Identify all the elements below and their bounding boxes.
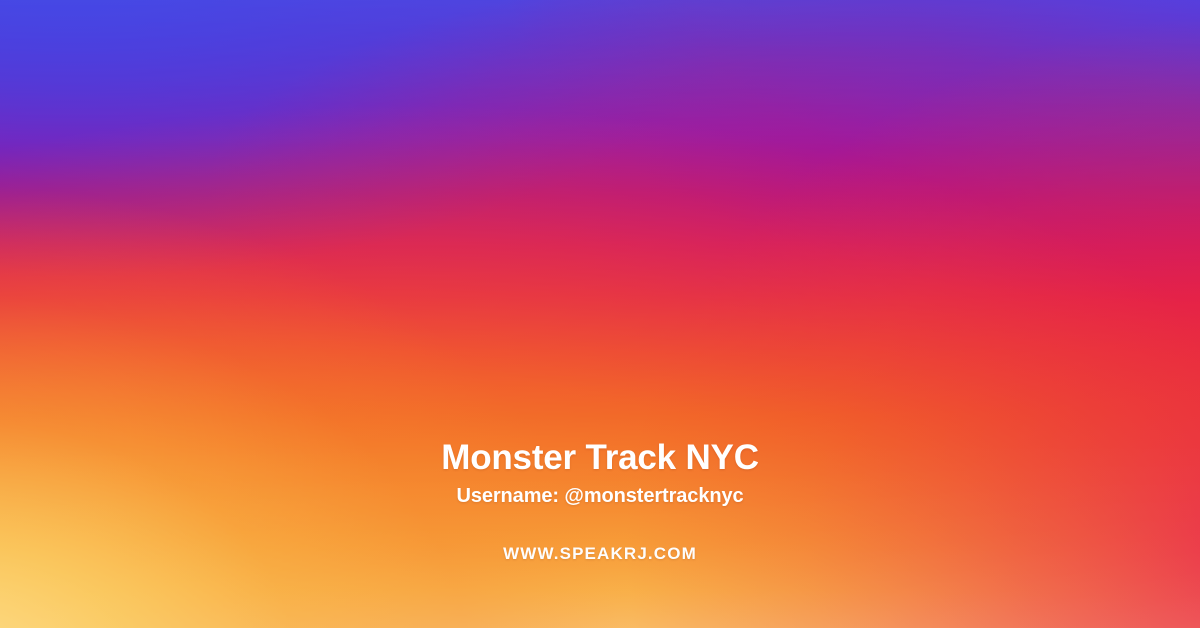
- profile-name: Monster Track NYC: [441, 436, 759, 480]
- site-url-watermark: WWW.SPEAKRJ.COM: [503, 543, 697, 565]
- banner-text-block: Monster Track NYC Username: @monstertrac…: [0, 436, 1200, 565]
- profile-username: Username: @monstertracknyc: [456, 483, 743, 509]
- profile-banner: Monster Track NYC Username: @monstertrac…: [0, 0, 1200, 628]
